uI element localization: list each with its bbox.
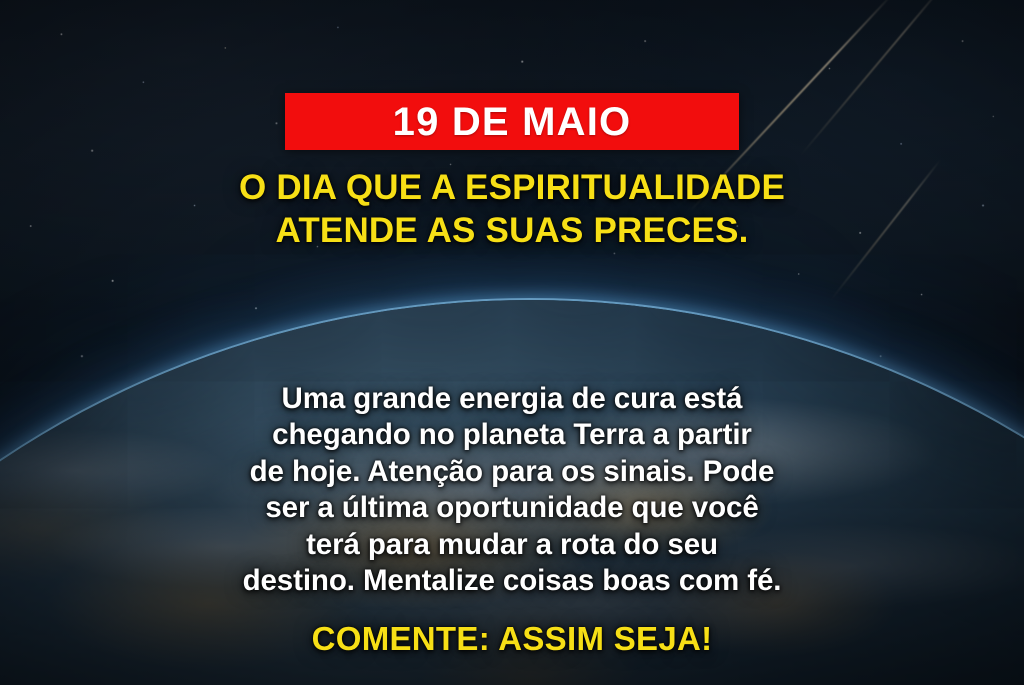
body-line-6: destino. Mentalize coisas boas com fé. [67,563,957,600]
call-to-action-text: COMENTE: ASSIM SEJA! [312,622,713,655]
poster-image: 19 DE MAIO O DIA QUE A ESPIRITUALIDADE A… [0,0,1024,685]
headline: O DIA QUE A ESPIRITUALIDADE ATENDE AS SU… [0,166,1024,253]
body-text: Uma grande energia de cura está chegando… [67,381,957,600]
body-line-3: de hoje. Atenção para os sinais. Pode [67,454,957,491]
body-line-5: terá para mudar a rota do seu [67,527,957,564]
body-line-2: chegando no planeta Terra a partir [67,417,957,454]
headline-line-2: ATENDE AS SUAS PRECES. [0,209,1024,252]
headline-line-1: O DIA QUE A ESPIRITUALIDADE [0,166,1024,209]
date-banner: 19 DE MAIO [285,93,739,150]
body-line-1: Uma grande energia de cura está [67,381,957,418]
poster-content: 19 DE MAIO O DIA QUE A ESPIRITUALIDADE A… [0,0,1024,685]
body-line-4: ser a última oportunidade que você [67,490,957,527]
date-banner-text: 19 DE MAIO [393,102,632,142]
